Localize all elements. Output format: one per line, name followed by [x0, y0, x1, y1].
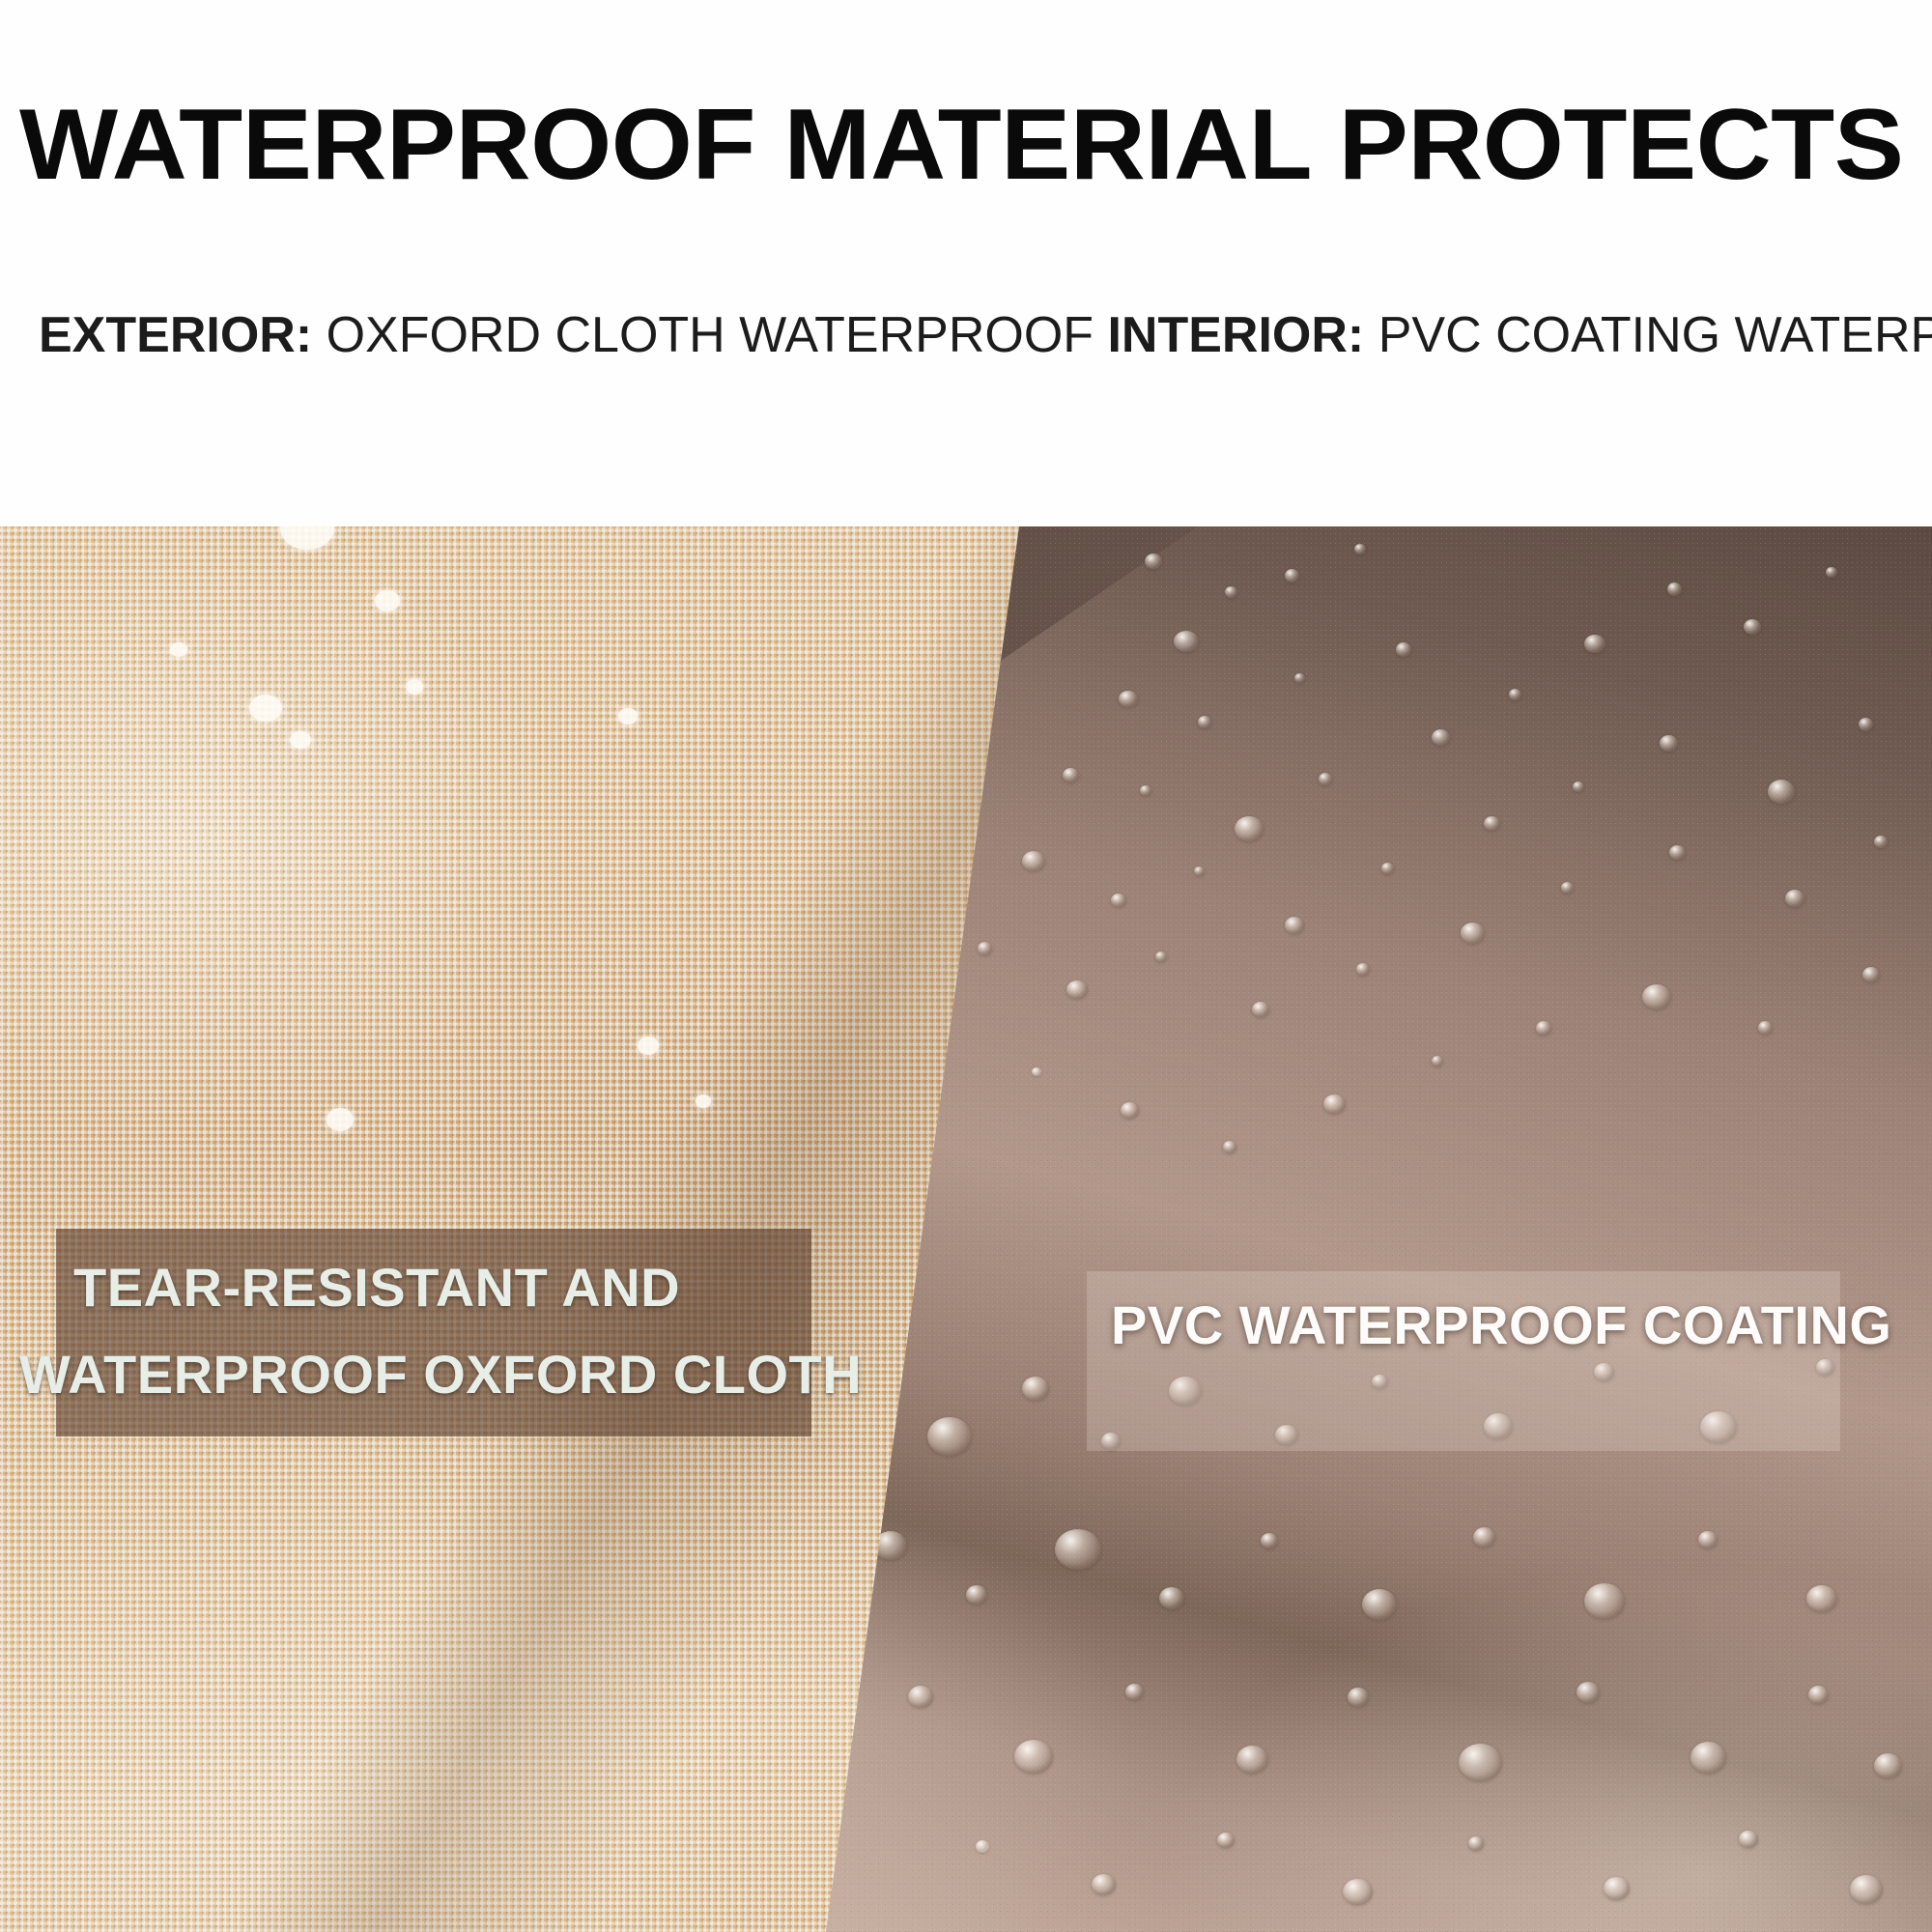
- water-bead: [1343, 1879, 1373, 1905]
- left-caption-text: TEAR-RESISTANT AND WATERPROOF OXFORD CLO…: [73, 1244, 943, 1418]
- photo-comparison-band: [0, 526, 1932, 1932]
- water-bead: [1561, 882, 1574, 894]
- water-bead: [1690, 1742, 1726, 1774]
- water-droplet: [406, 679, 423, 695]
- left-caption-line2: WATERPROOF OXFORD CLOTH: [19, 1331, 943, 1418]
- water-bead: [1032, 1067, 1041, 1076]
- water-bead: [1125, 1684, 1144, 1700]
- water-bead: [1396, 642, 1411, 657]
- water-bead: [1063, 768, 1079, 782]
- water-bead: [1285, 917, 1304, 934]
- water-bead: [1459, 1744, 1502, 1781]
- water-bead: [1159, 1587, 1184, 1609]
- material-subtitle: EXTERIOR: OXFORD CLOTH WATERPROOF INTERI…: [39, 307, 1913, 363]
- interior-label: INTERIOR:: [1107, 307, 1364, 363]
- water-bead: [1468, 1836, 1484, 1851]
- water-droplet: [375, 590, 400, 611]
- water-bead: [1235, 816, 1264, 841]
- water-bead: [1859, 718, 1873, 731]
- product-feature-banner: WATERPROOF MATERIAL PROTECTS FURNITURE E…: [0, 0, 1932, 1932]
- water-bead: [1194, 867, 1205, 876]
- water-bead: [1432, 1056, 1443, 1066]
- water-bead: [1381, 863, 1394, 874]
- water-bead: [1261, 1533, 1278, 1548]
- water-bead: [1294, 673, 1305, 683]
- exterior-value: OXFORD CLOTH WATERPROOF: [312, 307, 1107, 363]
- water-bead: [1874, 1753, 1902, 1778]
- water-bead: [1739, 1831, 1758, 1848]
- water-bead: [1155, 952, 1167, 962]
- water-bead: [1667, 582, 1682, 596]
- water-bead: [1323, 1094, 1346, 1114]
- water-bead: [1642, 984, 1671, 1009]
- water-bead: [976, 1840, 989, 1853]
- water-bead: [1604, 1877, 1630, 1900]
- water-bead: [1236, 1746, 1268, 1774]
- water-bead: [1356, 963, 1370, 976]
- header-section: WATERPROOF MATERIAL PROTECTS FURNITURE E…: [0, 0, 1932, 526]
- water-bead: [1354, 544, 1366, 554]
- water-bead: [978, 942, 992, 955]
- water-bead: [1509, 689, 1521, 700]
- water-bead: [1577, 1682, 1600, 1703]
- water-bead: [1198, 716, 1211, 728]
- water-bead: [927, 1417, 972, 1456]
- water-bead: [1850, 1875, 1883, 1904]
- water-bead: [1119, 691, 1138, 707]
- water-bead: [1140, 785, 1151, 796]
- water-bead: [1808, 1686, 1829, 1704]
- water-bead: [1014, 1740, 1053, 1774]
- water-droplet: [638, 1037, 659, 1055]
- right-caption-text: PVC WATERPROOF COATING: [1111, 1293, 1932, 1358]
- water-bead: [1758, 1021, 1773, 1035]
- water-bead: [1055, 1529, 1101, 1570]
- water-bead: [1806, 1585, 1837, 1612]
- water-bead: [1092, 1874, 1116, 1895]
- water-droplet: [696, 1094, 711, 1108]
- water-bead: [1698, 1531, 1718, 1548]
- water-bead: [1066, 980, 1088, 999]
- water-bead: [1362, 1589, 1397, 1620]
- water-droplet: [618, 708, 638, 724]
- water-droplet: [327, 1108, 354, 1131]
- water-bead: [1584, 635, 1605, 653]
- water-bead: [1660, 735, 1678, 752]
- water-droplet: [249, 695, 282, 722]
- water-bead: [1348, 1688, 1369, 1707]
- water-bead: [1826, 567, 1837, 578]
- water-bead: [1225, 586, 1237, 598]
- water-bead: [908, 1686, 933, 1708]
- water-bead: [1223, 1141, 1236, 1153]
- water-bead: [1768, 780, 1795, 804]
- water-bead: [1536, 1021, 1551, 1036]
- water-bead: [1145, 554, 1162, 569]
- water-bead: [1874, 836, 1888, 848]
- exterior-label: EXTERIOR:: [39, 307, 312, 363]
- water-bead: [1461, 923, 1485, 944]
- water-bead: [1432, 729, 1450, 746]
- water-bead: [1252, 1002, 1269, 1017]
- water-bead: [1174, 631, 1199, 652]
- page-title: WATERPROOF MATERIAL PROTECTS FURNITURE: [19, 95, 1932, 195]
- water-droplet: [290, 731, 311, 749]
- left-caption-line1: TEAR-RESISTANT AND: [73, 1244, 943, 1331]
- water-bead: [1785, 890, 1804, 907]
- water-bead: [1022, 1377, 1049, 1401]
- interior-value: PVC COATING WATERPROOF: [1364, 307, 1932, 363]
- water-bead: [1285, 569, 1299, 582]
- water-bead: [1744, 619, 1761, 635]
- water-bead: [1473, 1527, 1495, 1548]
- water-bead: [1669, 845, 1686, 860]
- water-bead: [1022, 851, 1045, 871]
- water-bead: [1584, 1583, 1625, 1619]
- water-bead: [1121, 1102, 1139, 1119]
- water-bead: [1862, 967, 1880, 982]
- water-bead: [1573, 781, 1584, 792]
- water-bead: [1217, 1833, 1235, 1848]
- water-bead: [1111, 894, 1126, 907]
- water-bead: [966, 1585, 987, 1605]
- water-bead: [1484, 816, 1500, 831]
- water-droplet: [170, 642, 187, 657]
- water-bead: [1319, 773, 1332, 785]
